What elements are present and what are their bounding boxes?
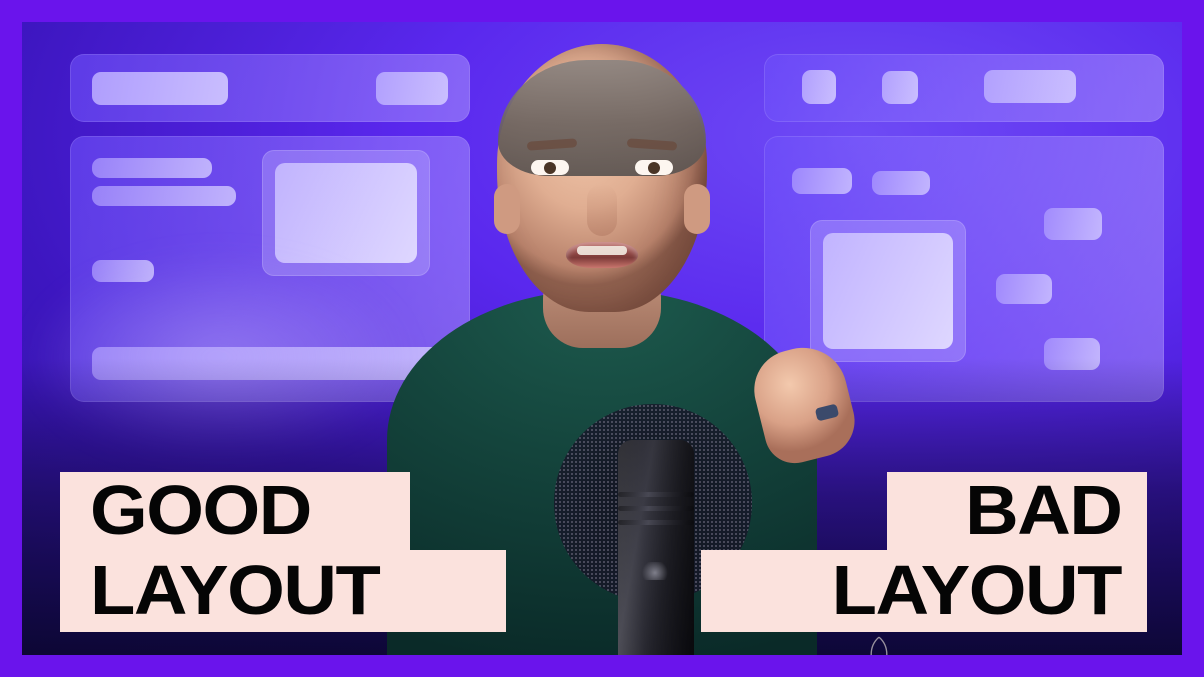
bad-tag-2 — [872, 171, 930, 195]
caption-bad-line-2-text: LAYOUT — [832, 562, 1121, 619]
caption-bad-line-2: LAYOUT — [701, 550, 1147, 632]
bad-layout-wireframe — [764, 54, 1164, 402]
bad-header-icon-2 — [882, 71, 918, 104]
bad-stray-block-1 — [1044, 208, 1102, 240]
caption-good-line-1: GOOD — [60, 472, 410, 550]
bad-image-placeholder — [810, 220, 966, 362]
caption-bad-line-1-text: BAD — [965, 482, 1121, 539]
youtube-thumbnail: GOOD LAYOUT BAD LAYOUT — [0, 0, 1204, 677]
bad-tag-1 — [792, 168, 852, 194]
caption-good-line-2-text: LAYOUT — [90, 562, 379, 619]
good-text-line-1 — [92, 158, 212, 178]
caption-good-line-1-text: GOOD — [90, 482, 311, 539]
bad-wireframe-header — [764, 54, 1164, 122]
good-wireframe-header — [70, 54, 470, 122]
good-text-line-2 — [92, 186, 236, 206]
bad-stray-block-2 — [996, 274, 1052, 304]
bad-header-action-block — [984, 70, 1076, 103]
caption-good-line-2: LAYOUT — [60, 550, 506, 632]
bad-header-icon-1 — [802, 70, 836, 104]
video-frame: GOOD LAYOUT BAD LAYOUT — [22, 22, 1182, 655]
good-header-nav-block — [92, 72, 228, 105]
caption-bad-line-1: BAD — [887, 472, 1147, 550]
caption-overlay: GOOD LAYOUT BAD LAYOUT — [22, 446, 1182, 646]
good-header-action-block — [376, 72, 448, 105]
